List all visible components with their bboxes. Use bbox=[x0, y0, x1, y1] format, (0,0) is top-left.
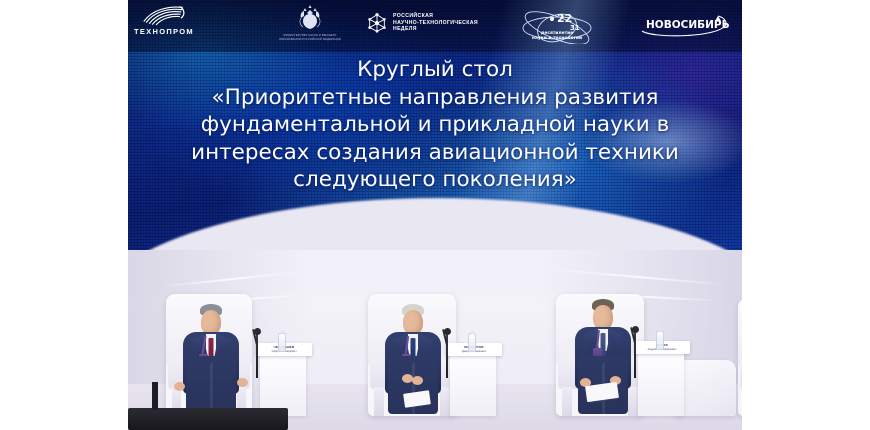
microphone-head bbox=[444, 328, 451, 335]
double-headed-eagle-icon bbox=[295, 3, 325, 33]
microphone-head bbox=[632, 326, 639, 333]
atom-molecule-icon bbox=[366, 12, 388, 34]
logo-technoprom: ТЕХНОПРОМ bbox=[134, 4, 194, 36]
logo-coat-of-arms-subtitle: МИНИСТЕРСТВО НАУКИ И ВЫСШЕГО ОБРАЗОВАНИЯ… bbox=[278, 34, 342, 42]
microphone-stand bbox=[634, 332, 636, 378]
title-line-1: Круглый стол bbox=[128, 56, 742, 84]
title-line-4: интересах создания авиационной техники bbox=[128, 139, 742, 167]
microphone-head bbox=[254, 328, 261, 335]
title-line-2: «Приоритетные направления развития bbox=[128, 84, 742, 112]
conference-photo: ТЕХНОПРОМ bbox=[0, 0, 870, 430]
title-line-5: следующего поколения» bbox=[128, 166, 742, 194]
monitor-stand bbox=[152, 382, 158, 410]
microphone-stand bbox=[256, 334, 258, 378]
pedestal-face bbox=[450, 352, 496, 416]
logo-row: ТЕХНОПРОМ bbox=[128, 0, 742, 52]
legs-trousers bbox=[186, 356, 236, 414]
logo-technoprom-label: ТЕХНОПРОМ bbox=[134, 27, 194, 36]
hand bbox=[412, 376, 423, 385]
screen-title: Круглый стол «Приоритетные направления р… bbox=[128, 52, 742, 194]
stage-area: ЧЕРНЫШЕВ Сергей Леонидович МАНТУРОВ Дмит… bbox=[128, 250, 742, 430]
microphone-stand bbox=[446, 334, 448, 378]
orbit-icon: 22 31 десятилетие науки и технологий bbox=[520, 8, 594, 44]
photo-frame: ТЕХНОПРОМ bbox=[128, 0, 742, 430]
letterbox-left bbox=[0, 0, 128, 430]
hand bbox=[237, 378, 248, 387]
pedestal-face bbox=[638, 350, 684, 416]
panelist bbox=[568, 302, 638, 414]
logo-russian-science-week-text: РОССИЙСКАЯ НАУЧНО-ТЕХНОЛОГИЧЕСКАЯ НЕДЕЛЯ bbox=[393, 13, 478, 33]
wing-book-icon bbox=[141, 4, 187, 26]
panelist bbox=[378, 306, 448, 414]
logo-novosibirsk-label: НОВОСИБИРЬ bbox=[646, 19, 730, 31]
suit-lapel bbox=[608, 328, 622, 354]
decade-line-2: науки и технологий bbox=[532, 34, 582, 41]
logo-novosibirsk: НОВОСИБИРЬ bbox=[640, 12, 736, 40]
water-bottle bbox=[278, 333, 286, 352]
water-bottle bbox=[656, 331, 664, 350]
rsw-line-3: НЕДЕЛЯ bbox=[393, 26, 478, 33]
water-bottle bbox=[468, 333, 476, 352]
hand bbox=[174, 382, 185, 391]
swoosh-icon: НОВОСИБИРЬ bbox=[640, 12, 736, 40]
logo-decade-of-science: 22 31 десятилетие науки и технологий bbox=[520, 8, 594, 44]
title-line-3: фундаментальной и прикладной науки в bbox=[128, 111, 742, 139]
letterbox-right bbox=[742, 0, 870, 430]
pedestal bbox=[638, 350, 684, 416]
logo-coat-of-arms: МИНИСТЕРСТВО НАУКИ И ВЫСШЕГО ОБРАЗОВАНИЯ… bbox=[278, 3, 342, 42]
logo-russian-science-week: РОССИЙСКАЯ НАУЧНО-ТЕХНОЛОГИЧЕСКАЯ НЕДЕЛЯ bbox=[366, 12, 478, 34]
pedestal bbox=[450, 352, 496, 416]
pedestal bbox=[260, 352, 306, 416]
panelist bbox=[176, 306, 246, 414]
pedestal-face bbox=[260, 352, 306, 416]
floor-confidence-monitor bbox=[128, 408, 288, 430]
